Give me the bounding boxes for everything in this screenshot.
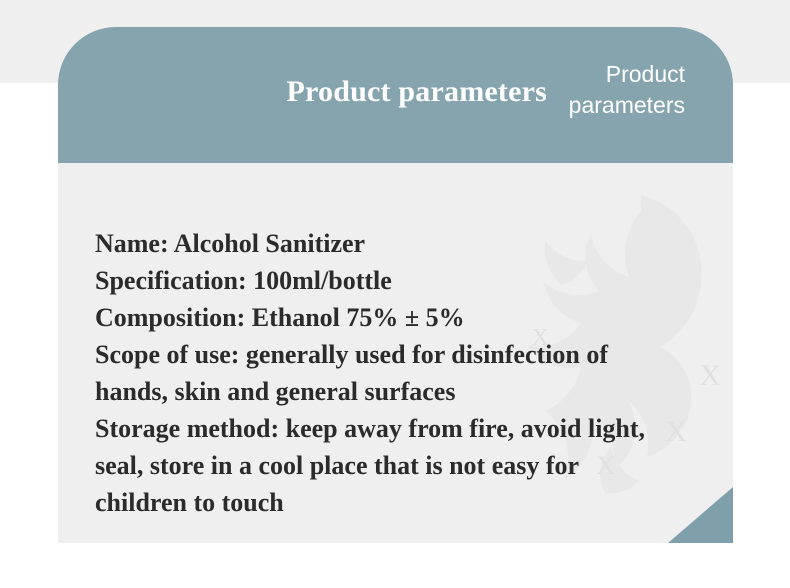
- header-subtitle-line-1: Product: [455, 59, 685, 90]
- parameters-text-block: Name: Alcohol Sanitizer Specification: 1…: [95, 225, 705, 521]
- parameter-line: seal, store in a cool place that is not …: [95, 447, 705, 484]
- parameter-line: Scope of use: generally used for disinfe…: [95, 336, 705, 373]
- parameter-line: Storage method: keep away from fire, avo…: [95, 410, 705, 447]
- parameter-line: Name: Alcohol Sanitizer: [95, 225, 705, 262]
- header-subtitle-line-2: parameters: [455, 90, 685, 121]
- product-parameters-banner: Product parameters Product parameters X …: [0, 0, 790, 588]
- header-subtitle: Product parameters: [455, 59, 685, 121]
- parameter-line: Composition: Ethanol 75% ± 5%: [95, 299, 705, 336]
- product-parameters-card: Product parameters Product parameters X …: [58, 27, 733, 543]
- card-header: Product parameters Product parameters: [58, 27, 733, 163]
- parameter-line: hands, skin and general surfaces: [95, 373, 705, 410]
- parameter-line: Specification: 100ml/bottle: [95, 262, 705, 299]
- parameter-line: children to touch: [95, 484, 705, 521]
- card-body: X X X X Name: Alcohol Sanitizer Specific…: [58, 163, 733, 543]
- folded-corner-decoration: [668, 487, 733, 543]
